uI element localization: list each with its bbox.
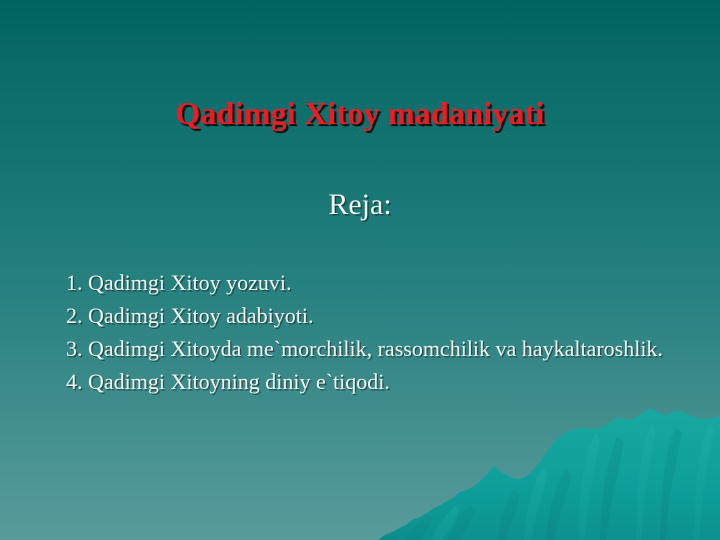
list-item: 2. Qadimgi Xitoy adabiyoti. <box>66 301 666 331</box>
presentation-slide: Qadimgi Xitoy madaniyati Reja: 1. Qadimg… <box>0 0 720 540</box>
mountain-ridge-main <box>378 409 720 540</box>
mountain-highlight-bands <box>432 424 714 540</box>
list-item: 3. Qadimgi Xitoyda me`morchilik, rassomc… <box>66 334 666 364</box>
list-item: 4. Qadimgi Xitoyning diniy e`tiqodi. <box>66 367 666 397</box>
mountain-shading-bands <box>404 427 682 540</box>
list-item: 1. Qadimgi Xitoy yozuvi. <box>66 268 666 298</box>
page-title: Qadimgi Xitoy madaniyati <box>0 95 720 132</box>
plan-list: 1. Qadimgi Xitoy yozuvi. 2. Qadimgi Xito… <box>66 268 666 400</box>
plan-heading: Reja: <box>0 188 720 222</box>
mountain-foreground-bumps <box>378 527 410 540</box>
